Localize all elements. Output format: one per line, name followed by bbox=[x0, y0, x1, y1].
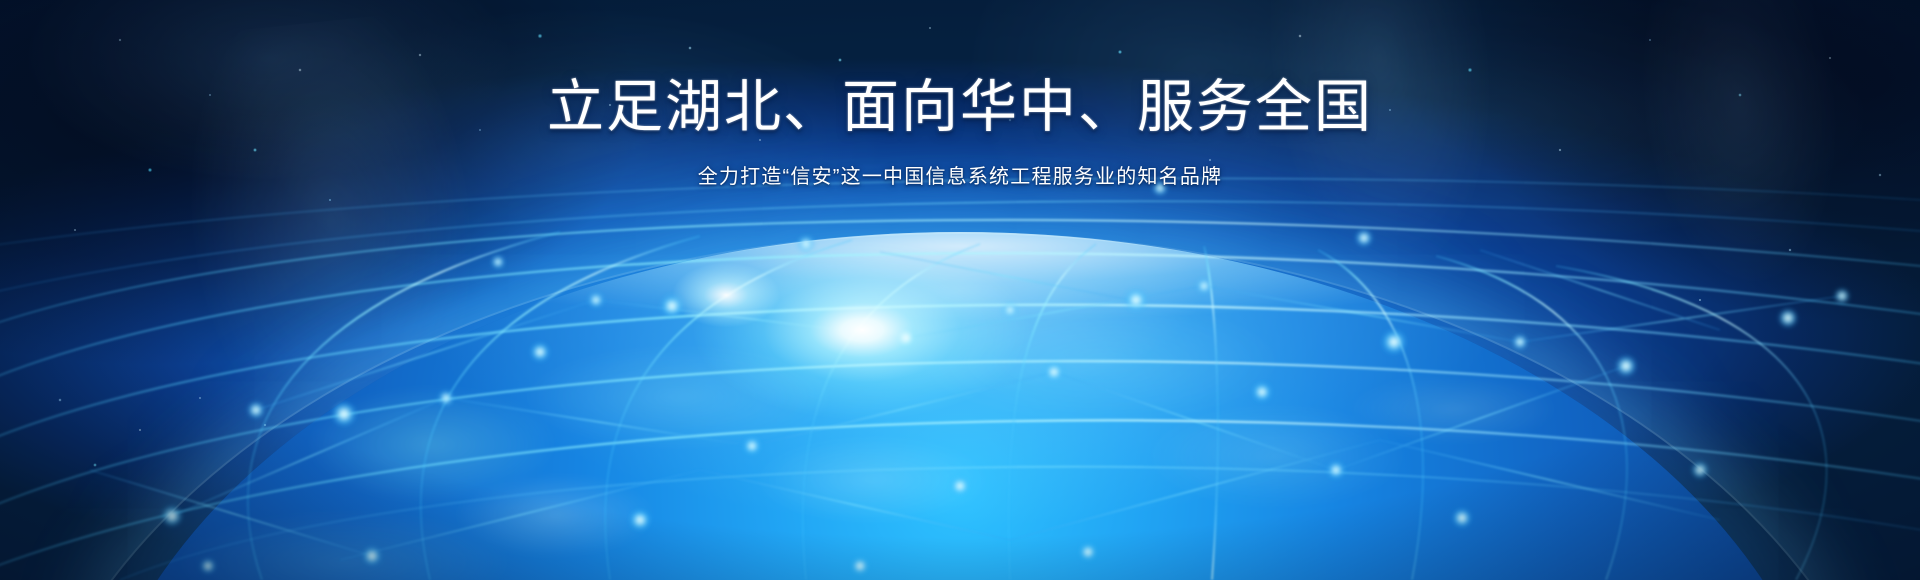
secondary-light-burst bbox=[651, 250, 801, 340]
banner-subline: 全力打造“信安”这一中国信息系统工程服务业的知名品牌 bbox=[0, 160, 1920, 189]
banner-text-block: 立足湖北、面向华中、服务全国 全力打造“信安”这一中国信息系统工程服务业的知名品… bbox=[0, 78, 1920, 189]
banner-headline: 立足湖北、面向华中、服务全国 bbox=[0, 78, 1920, 138]
hero-banner: 立足湖北、面向华中、服务全国 全力打造“信安”这一中国信息系统工程服务业的知名品… bbox=[0, 0, 1920, 580]
